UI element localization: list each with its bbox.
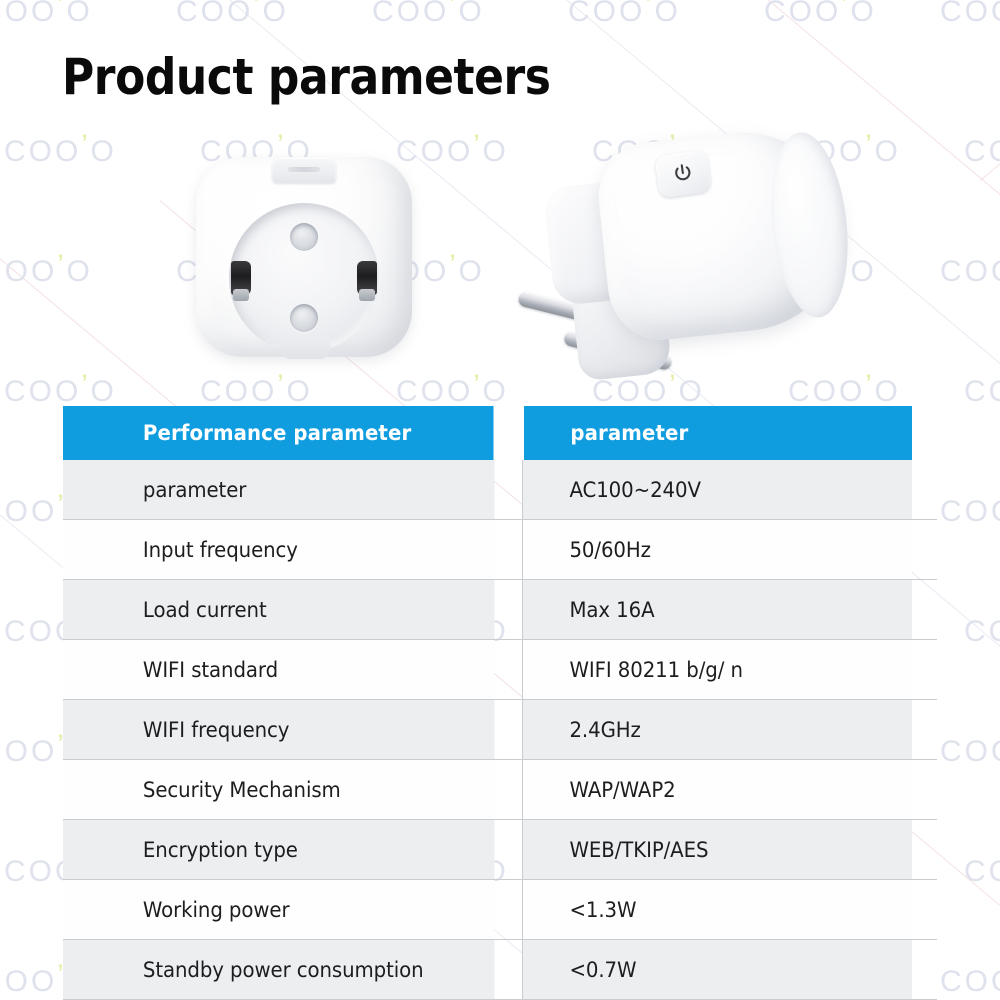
spec-table-row: WIFI standardWIFI 80211 b/g/ n bbox=[63, 640, 937, 700]
spec-table-row: Encryption typeWEB/TKIP/AES bbox=[63, 820, 937, 880]
watermark-text: COO’O bbox=[176, 0, 289, 29]
watermark-text: COO’O bbox=[940, 960, 1000, 999]
power-icon bbox=[669, 160, 696, 187]
spec-header-performance-parameter: Performance parameter bbox=[63, 406, 494, 460]
spec-table-body: parameterAC100~240VInput frequency50/60H… bbox=[63, 460, 937, 1000]
plug-bottom-tab bbox=[280, 337, 330, 359]
spec-row-value: 50/60Hz bbox=[522, 520, 912, 580]
watermark-text: COO’O bbox=[964, 850, 1000, 889]
spec-row-value: WAP/WAP2 bbox=[522, 760, 912, 820]
spec-header-parameter: parameter bbox=[522, 406, 912, 460]
plug-body-front bbox=[196, 157, 412, 357]
earth-clip-right bbox=[357, 261, 377, 295]
socket-recess bbox=[229, 203, 379, 353]
spec-row-value: <0.7W bbox=[522, 940, 912, 1000]
socket-pin-hole-bottom bbox=[290, 304, 318, 332]
product-gallery bbox=[0, 95, 1000, 395]
spec-row-value: <1.3W bbox=[522, 880, 912, 940]
watermark-text: COO’O bbox=[764, 0, 877, 29]
spec-table-row: WIFI frequency2.4GHz bbox=[63, 700, 937, 760]
spec-table-head: Performance parameter parameter bbox=[63, 406, 937, 460]
plug-end-cap bbox=[763, 129, 856, 322]
spec-row-name: parameter bbox=[63, 460, 494, 520]
watermark-text: COO’O bbox=[372, 0, 485, 29]
spec-row-name: Load current bbox=[63, 580, 494, 640]
watermark-text: COO’O bbox=[940, 490, 1000, 529]
spec-row-name: WIFI frequency bbox=[63, 700, 494, 760]
plug-barrel bbox=[593, 123, 852, 345]
spec-row-value: WIFI 80211 b/g/ n bbox=[522, 640, 912, 700]
watermark-text: COO’O bbox=[964, 610, 1000, 649]
spec-row-name: WIFI standard bbox=[63, 640, 494, 700]
power-button bbox=[654, 150, 711, 199]
spec-table-header-row: Performance parameter parameter bbox=[63, 406, 937, 460]
product-spec-table: Performance parameter parameter paramete… bbox=[63, 406, 937, 1000]
socket-pin-hole-top bbox=[290, 223, 318, 251]
spec-row-value: AC100~240V bbox=[522, 460, 912, 520]
spec-table-row: Input frequency50/60Hz bbox=[63, 520, 937, 580]
spec-table-row: Standby power consumption<0.7W bbox=[63, 940, 937, 1000]
smart-plug-front-view-image bbox=[196, 143, 412, 358]
spec-row-value: 2.4GHz bbox=[522, 700, 912, 760]
spec-row-name: Working power bbox=[63, 880, 494, 940]
spec-row-name: Encryption type bbox=[63, 820, 494, 880]
spec-table-row: parameterAC100~240V bbox=[63, 460, 937, 520]
watermark-text: COO’O bbox=[940, 0, 1000, 29]
watermark-text: COO’O bbox=[940, 730, 1000, 769]
earth-clip-left bbox=[231, 261, 251, 295]
watermark-text: COO’O bbox=[0, 0, 93, 29]
spec-row-name: Security Mechanism bbox=[63, 760, 494, 820]
spec-row-value: Max 16A bbox=[522, 580, 912, 640]
spec-table-row: Load currentMax 16A bbox=[63, 580, 937, 640]
spec-table-row: Working power<1.3W bbox=[63, 880, 937, 940]
plug-top-button-nub bbox=[272, 157, 336, 183]
page-title: Product parameters bbox=[62, 46, 551, 109]
smart-plug-angled-view-image bbox=[515, 105, 875, 395]
spec-row-value: WEB/TKIP/AES bbox=[522, 820, 912, 880]
spec-row-name: Standby power consumption bbox=[63, 940, 494, 1000]
watermark-text: COO’O bbox=[568, 0, 681, 29]
spec-row-name: Input frequency bbox=[63, 520, 494, 580]
spec-table-row: Security MechanismWAP/WAP2 bbox=[63, 760, 937, 820]
